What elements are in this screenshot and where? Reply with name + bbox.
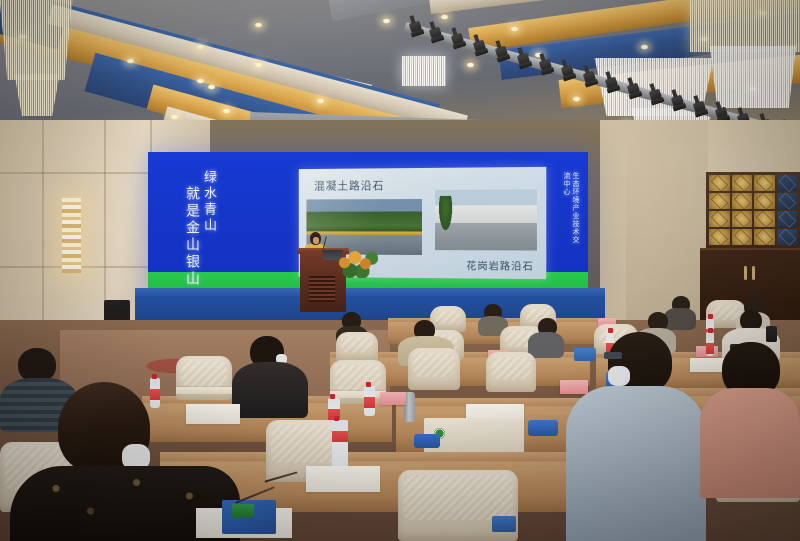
- lattice-cell: [732, 175, 753, 191]
- water-bottle[interactable]: [332, 420, 348, 472]
- attendee-torso: [566, 386, 706, 541]
- face-mask: [608, 366, 630, 386]
- downlight: [572, 96, 581, 102]
- attendee-torso: [700, 388, 800, 498]
- downlight: [382, 18, 391, 24]
- door-handle-icon[interactable]: [752, 266, 755, 280]
- lattice-cell: [709, 193, 730, 209]
- attendee-head: [18, 348, 56, 382]
- blue-badge-holder[interactable]: [528, 420, 558, 436]
- downlight: [254, 62, 263, 68]
- chandelier-gold-right: [690, 0, 800, 52]
- downlight: [196, 78, 205, 84]
- chandelier-gold-left: [0, 0, 78, 80]
- stage-spotlight: [583, 71, 597, 84]
- attendee-torso: [664, 308, 696, 330]
- slide-title: 混凝土路沿石: [314, 177, 384, 193]
- slide-caption: 花岗岩路沿石: [466, 257, 534, 273]
- stage-spotlight: [715, 107, 729, 120]
- lattice-cell: [709, 229, 730, 245]
- blue-badge-holder[interactable]: [414, 434, 440, 448]
- eyeglasses-icon: [604, 352, 622, 359]
- wall-sconce-icon: [62, 198, 81, 273]
- table-top: [160, 452, 580, 461]
- downlight: [640, 44, 649, 50]
- led-calligraphy-line-1: 绿水青山: [200, 170, 219, 234]
- led-calligraphy-line-2: 就是金山银山: [181, 186, 201, 288]
- decorative-lattice-screen: [706, 172, 800, 248]
- chair[interactable]: [408, 348, 460, 390]
- chair-sash: [176, 386, 232, 394]
- door-handle-icon[interactable]: [744, 266, 747, 280]
- attendee-head-spacer: [252, 332, 260, 340]
- chandelier-gold-left-lower: [10, 74, 64, 116]
- downlight: [440, 14, 449, 20]
- chair[interactable]: [430, 306, 466, 332]
- lattice-cell: [754, 175, 775, 191]
- downlight: [254, 22, 263, 28]
- downlight: [510, 26, 519, 32]
- lattice-cell: [754, 211, 775, 227]
- chair[interactable]: [176, 356, 232, 400]
- lattice-cell: [709, 211, 730, 227]
- presenter-face: [313, 237, 319, 244]
- downlight: [126, 58, 135, 64]
- lattice-cell: [732, 193, 753, 209]
- place-card: [380, 392, 406, 405]
- attendee-torso: [232, 362, 308, 418]
- photo-scene: 绿水青山 就是金山银山 生态环境产业技术交流中心 混凝土路沿石 花岗岩路沿石: [0, 0, 800, 541]
- chandelier-crystal-small: [402, 56, 446, 86]
- downlight: [316, 98, 325, 104]
- phone[interactable]: [492, 516, 516, 532]
- downlight: [466, 62, 475, 68]
- lattice-cell: [777, 175, 798, 191]
- chandelier-crystal-right: [706, 46, 800, 108]
- lattice-cell: [777, 193, 798, 209]
- tablet[interactable]: [574, 348, 596, 361]
- phone[interactable]: [766, 326, 777, 342]
- lattice-cell: [709, 175, 730, 191]
- booklet-logo: [232, 504, 254, 518]
- lattice-cell: [777, 211, 798, 227]
- attendee-torso: [528, 332, 564, 358]
- downlight: [196, 44, 205, 50]
- lattice-cell: [732, 229, 753, 245]
- chair[interactable]: [336, 332, 378, 362]
- stage-spotlight: [409, 21, 423, 34]
- downlight: [207, 84, 216, 90]
- chair-sash: [330, 390, 386, 398]
- slide-photo-right: [435, 189, 537, 250]
- right-wall-panel: [626, 120, 708, 340]
- document-sheet[interactable]: [306, 466, 380, 492]
- lattice-cell: [732, 211, 753, 227]
- lattice-cell: [777, 229, 798, 245]
- stage-spotlight: [451, 33, 465, 46]
- chair[interactable]: [486, 352, 536, 392]
- stage-spotlight: [495, 46, 509, 59]
- water-bottle[interactable]: [706, 332, 714, 356]
- water-bottle[interactable]: [364, 386, 375, 416]
- lattice-cell: [754, 229, 775, 245]
- water-bottle[interactable]: [150, 378, 160, 408]
- place-card: [560, 380, 588, 394]
- downlight: [222, 108, 231, 114]
- podium-flower-arrangement: [336, 244, 378, 278]
- lattice-cell: [754, 193, 775, 209]
- document-sheet[interactable]: [186, 404, 240, 424]
- stage-spotlight: [429, 27, 443, 40]
